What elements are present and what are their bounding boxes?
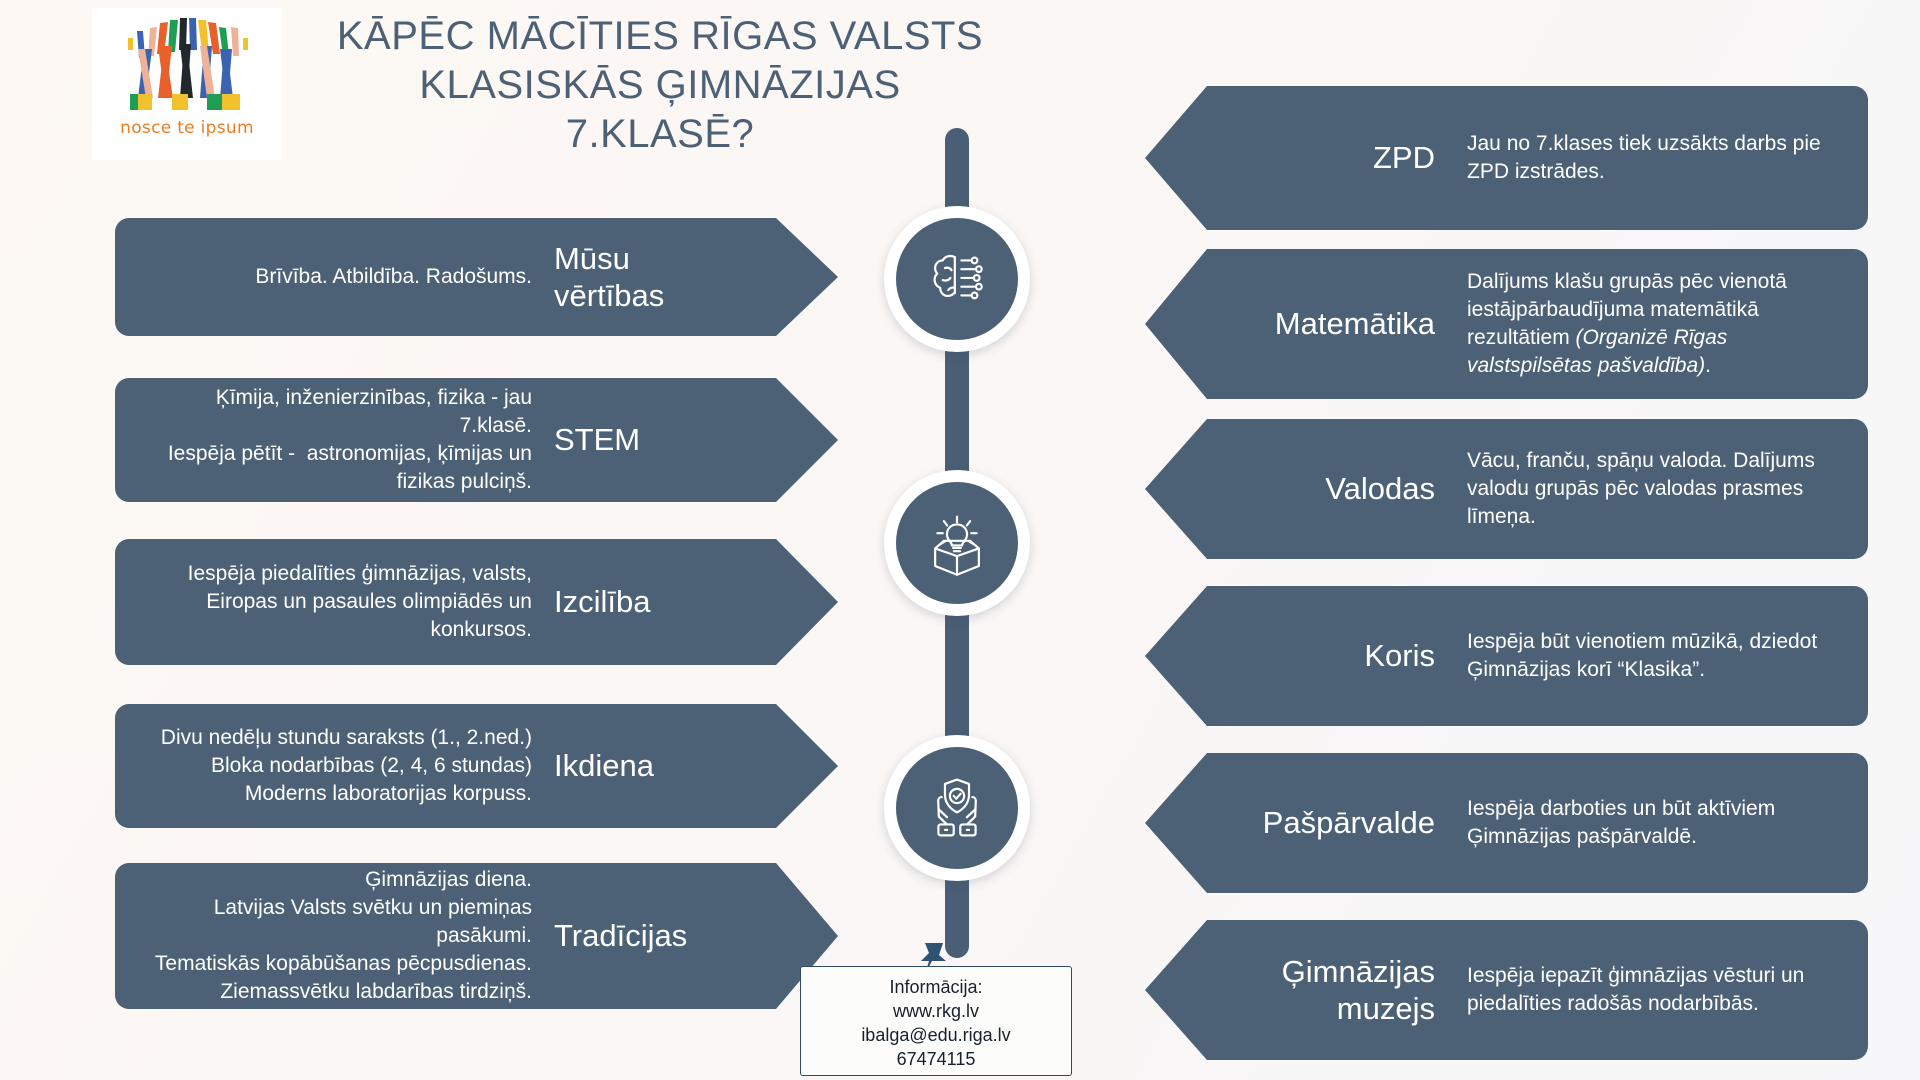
brain-circuit-icon	[896, 218, 1018, 340]
title-line-3: 7.KLASĒ?	[300, 110, 1020, 159]
card-label: Pašpārvalde	[1217, 804, 1445, 841]
card-right-valodas[interactable]: Valodas Vācu, franču, spāņu valoda. Dalī…	[1145, 419, 1868, 559]
desc-tail: .	[1705, 354, 1711, 377]
title-line-2: KLASISKĀS ĢIMNĀZIJAS	[300, 61, 1020, 110]
school-logo: nosce te ipsum	[92, 8, 282, 160]
card-description: Jau no 7.klases tiek uzsākts darbs pie Z…	[1445, 130, 1842, 186]
card-label: Izcilība	[550, 583, 768, 620]
timeline-node-1	[884, 206, 1030, 352]
info-note: Informācija: www.rkg.lv ibalga@edu.riga.…	[800, 966, 1072, 1076]
card-description: Ģimnāzijas diena.Latvijas Valsts svētku …	[141, 866, 550, 1007]
card-right-koris[interactable]: Koris Iespēja būt vienotiem mūzikā, dzie…	[1145, 586, 1868, 726]
logo-caption: nosce te ipsum	[120, 118, 254, 138]
info-line-2[interactable]: www.rkg.lv	[801, 1000, 1071, 1024]
card-label: ZPD	[1217, 139, 1445, 176]
card-description: Brīvība. Atbildība. Radošums.	[141, 263, 550, 291]
card-label: STEM	[550, 421, 768, 458]
card-label: Koris	[1217, 637, 1445, 674]
card-right-zpd[interactable]: ZPD Jau no 7.klases tiek uzsākts darbs p…	[1145, 86, 1868, 230]
hands-shield-check-icon	[896, 747, 1018, 869]
info-line-3[interactable]: ibalga@edu.riga.lv	[801, 1024, 1071, 1048]
card-left-musu-vertibas[interactable]: Brīvība. Atbildība. Radošums. Mūsuvērtīb…	[115, 218, 838, 336]
info-line-4: 67474115	[801, 1048, 1071, 1072]
card-right-matematika[interactable]: Matemātika Dalījums klašu grupās pēc vie…	[1145, 249, 1868, 399]
lightbulb-in-box-icon	[896, 482, 1018, 604]
card-right-paspar-valde[interactable]: Pašpārvalde Iespēja darboties un būt akt…	[1145, 753, 1868, 893]
card-description: Dalījums klašu grupās pēc vienotā iestāj…	[1445, 268, 1842, 381]
card-description: Ķīmija, inženierzinības, fizika - jau 7.…	[141, 384, 550, 497]
card-description: Iespēja iepazīt ģimnāzijas vēsturi un pi…	[1445, 962, 1842, 1018]
title-line-1: KĀPĒC MĀCĪTIES RĪGAS VALSTS	[300, 12, 1020, 61]
card-label: Tradīcijas	[550, 917, 768, 954]
gymnasium-columns-logo-icon	[112, 16, 262, 116]
card-right-gimnazijas-muzejs[interactable]: Ģimnāzijasmuzejs Iespēja iepazīt ģimnāzi…	[1145, 920, 1868, 1060]
card-label: Valodas	[1217, 470, 1445, 507]
card-description: Divu nedēļu stundu saraksts (1., 2.ned.)…	[141, 724, 550, 808]
card-description: Iespēja darboties un būt aktīviem Ģimnāz…	[1445, 795, 1842, 851]
card-description: Iespēja būt vienotiem mūzikā, dziedot Ģi…	[1445, 628, 1842, 684]
card-label: Ikdiena	[550, 747, 768, 784]
card-label: Matemātika	[1217, 305, 1445, 342]
card-left-stem[interactable]: Ķīmija, inženierzinības, fizika - jau 7.…	[115, 378, 838, 502]
card-description: Iespēja piedalīties ģimnāzijas, valsts, …	[141, 560, 550, 644]
card-description: Vācu, franču, spāņu valoda. Dalījums val…	[1445, 447, 1842, 531]
info-line-1: Informācija:	[801, 976, 1071, 1000]
timeline-node-2	[884, 470, 1030, 616]
card-left-tradicijas[interactable]: Ģimnāzijas diena.Latvijas Valsts svētku …	[115, 863, 838, 1009]
card-left-ikdiena[interactable]: Divu nedēļu stundu saraksts (1., 2.ned.)…	[115, 704, 838, 828]
card-left-izcilība[interactable]: Iespēja piedalīties ģimnāzijas, valsts, …	[115, 539, 838, 665]
card-label: Mūsuvērtības	[550, 240, 768, 314]
card-label: Ģimnāzijasmuzejs	[1217, 953, 1445, 1027]
page-title: KĀPĒC MĀCĪTIES RĪGAS VALSTS KLASISKĀS ĢI…	[300, 12, 1020, 158]
timeline-node-3	[884, 735, 1030, 881]
